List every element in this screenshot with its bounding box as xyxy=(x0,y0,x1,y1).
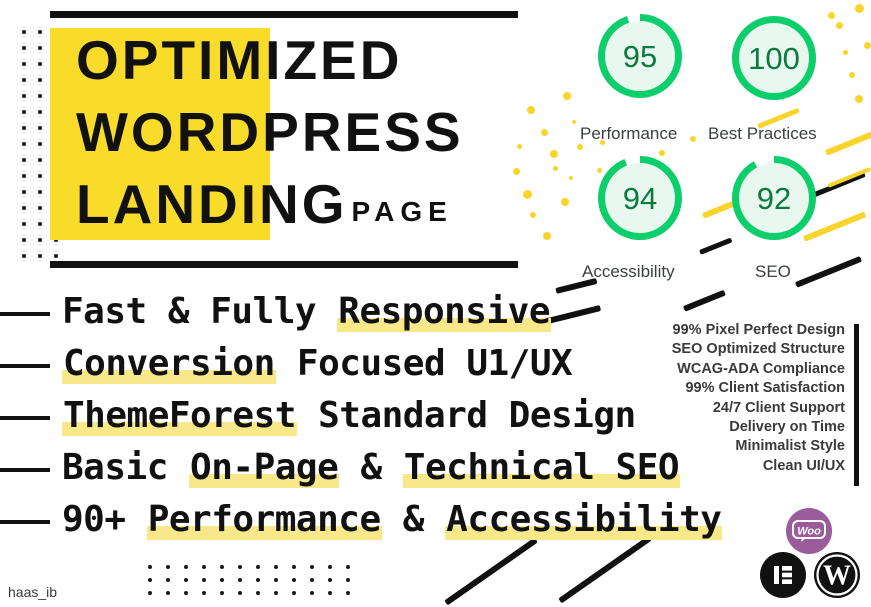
lighthouse-scores: 95Performance100Best Practices94Accessib… xyxy=(0,0,871,300)
feature-text-highlight: On-Page xyxy=(189,447,339,488)
benefit-item: Delivery on Time xyxy=(672,418,845,437)
gauge-inner: 100 xyxy=(739,23,809,93)
woocommerce-logo: Woo xyxy=(786,508,832,554)
wordpress-logo: W xyxy=(812,550,862,600)
benefit-item: 99% Client Satisfaction xyxy=(672,379,845,398)
feature-text: Conversion Focused U1/UX xyxy=(62,340,572,388)
benefit-list: 99% Pixel Perfect DesignSEO Optimized St… xyxy=(672,321,845,476)
feature-text: ThemeForest Standard Design xyxy=(62,392,636,440)
feature-text: Basic On-Page & Technical SEO xyxy=(62,444,680,492)
feature-text-post: Focused U1/UX xyxy=(276,343,572,384)
score-gauge-best-practices: 100 xyxy=(732,16,816,100)
score-gauge-seo: 92 xyxy=(732,156,816,240)
feature-text-highlight: Conversion xyxy=(62,343,276,384)
elementor-glyph xyxy=(772,564,794,586)
feature-row: ThemeForest Standard Design xyxy=(0,392,730,444)
feature-row: Fast & Fully Responsive xyxy=(0,288,730,340)
feature-dash-icon xyxy=(0,468,50,472)
svg-text:Woo: Woo xyxy=(797,526,821,538)
poster-canvas: OPTIMIZED WORDPRESS LANDING PAGE 95Perfo… xyxy=(0,0,871,607)
feature-text-highlight: Responsive xyxy=(337,291,551,332)
gauge-inner: 92 xyxy=(739,163,809,233)
score-gauge-performance: 95 xyxy=(598,14,682,98)
benefit-item: Minimalist Style xyxy=(672,437,845,456)
score-gauge-accessibility: 94 xyxy=(598,156,682,240)
feature-row: Conversion Focused U1/UX xyxy=(0,340,730,392)
benefit-item: SEO Optimized Structure xyxy=(672,340,845,359)
gauge-label: Performance xyxy=(580,124,677,144)
feature-list: Fast & Fully ResponsiveConversion Focuse… xyxy=(0,288,730,548)
feature-text-post: Standard Design xyxy=(297,395,636,436)
feature-text-pre: Fast & Fully xyxy=(62,291,337,332)
feature-text-highlight-2: Technical SEO xyxy=(403,447,680,488)
feature-row: 90+ Performance & Accessibility xyxy=(0,496,730,548)
benefit-item: WCAG-ADA Compliance xyxy=(672,360,845,379)
feature-text: 90+ Performance & Accessibility xyxy=(62,496,722,544)
benefit-list-accent-bar xyxy=(854,324,859,486)
feature-text-pre: Basic xyxy=(62,447,189,488)
svg-text:W: W xyxy=(823,561,851,592)
gauge-value: 100 xyxy=(748,43,800,74)
benefit-item: Clean UI/UX xyxy=(672,457,845,476)
feature-text-pre: 90+ xyxy=(62,499,147,540)
benefit-item: 99% Pixel Perfect Design xyxy=(672,321,845,340)
feature-text-post: & xyxy=(339,447,403,488)
gauge-label: Best Practices xyxy=(708,124,817,144)
gauge-value: 95 xyxy=(623,41,657,72)
elementor-logo xyxy=(760,552,806,598)
feature-dash-icon xyxy=(0,312,50,316)
wordpress-glyph: W xyxy=(812,550,862,600)
feature-dash-icon xyxy=(0,364,50,368)
feature-text: Fast & Fully Responsive xyxy=(62,288,551,336)
gauge-label: SEO xyxy=(755,262,791,282)
gauge-inner: 94 xyxy=(605,163,675,233)
feature-row: Basic On-Page & Technical SEO xyxy=(0,444,730,496)
watermark: haas_ib xyxy=(8,584,57,600)
feature-dash-icon xyxy=(0,416,50,420)
gauge-value: 92 xyxy=(757,183,791,214)
benefit-item: 24/7 Client Support xyxy=(672,399,845,418)
gauge-inner: 95 xyxy=(605,21,675,91)
feature-text-highlight: Performance xyxy=(147,499,382,540)
woo-glyph: Woo xyxy=(792,520,826,542)
feature-text-post: & xyxy=(382,499,446,540)
feature-text-highlight-2: Accessibility xyxy=(445,499,722,540)
feature-text-highlight: ThemeForest xyxy=(62,395,297,436)
feature-dash-icon xyxy=(0,520,50,524)
gauge-value: 94 xyxy=(623,183,657,214)
gauge-label: Accessibility xyxy=(582,262,675,282)
